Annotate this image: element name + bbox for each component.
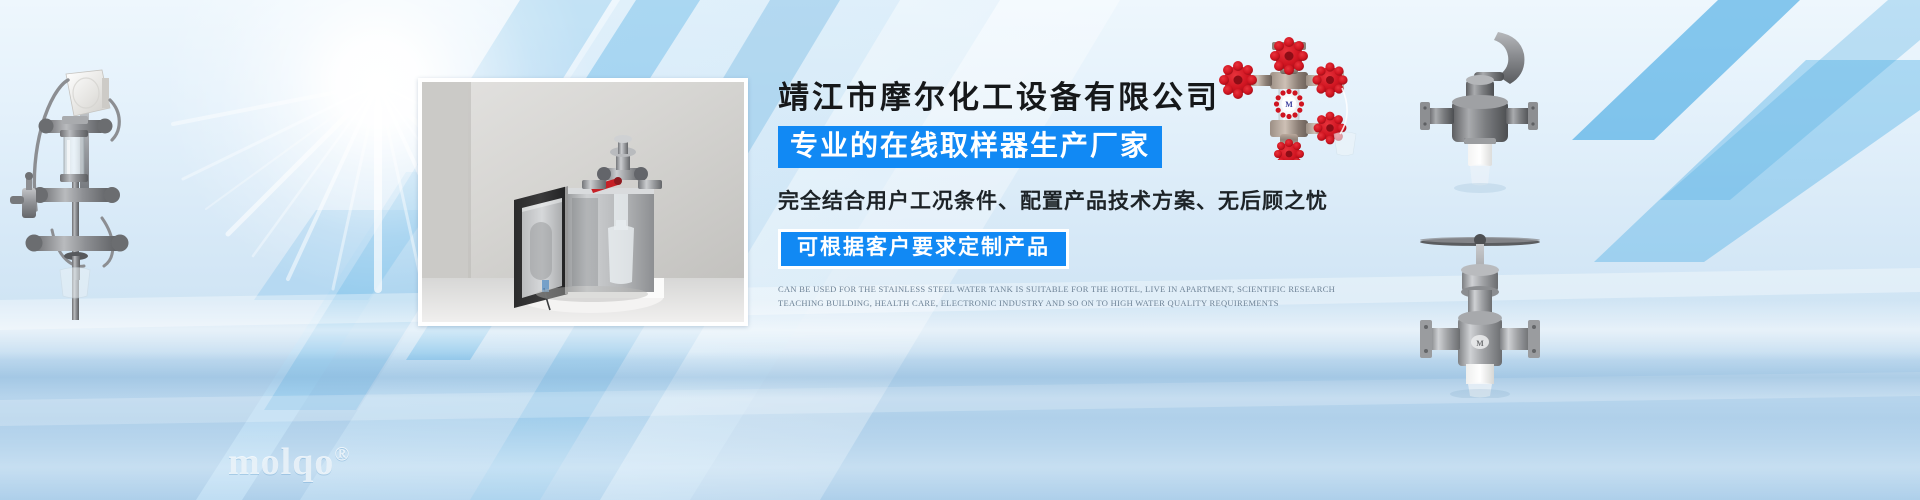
brand-watermark: molqo® (228, 440, 350, 484)
online-sampler-icon (6, 60, 156, 320)
angle-valve-icon (1412, 28, 1542, 198)
registered-mark: ® (334, 443, 350, 465)
sampler-cabinet-photo (418, 78, 748, 326)
banner-text-block: 靖江市摩尔化工设备有限公司 专业的在线取样器生产厂家 完全结合用户工况条件、配置… (778, 82, 1398, 310)
secondary-tagline: 可根据客户要求定制产品 (778, 229, 1069, 269)
sub-tagline: 完全结合用户工况条件、配置产品技术方案、无后顾之忧 (778, 185, 1398, 215)
company-name: 靖江市摩尔化工设备有限公司 (778, 82, 1398, 115)
svg-text:M: M (1476, 339, 1484, 348)
sampler-cabinet-illustration (422, 82, 744, 322)
water-horizon-band (0, 352, 1920, 398)
promo-banner: 靖江市摩尔化工设备有限公司 专业的在线取样器生产厂家 完全结合用户工况条件、配置… (0, 0, 1920, 500)
primary-tagline: 专业的在线取样器生产厂家 (778, 126, 1162, 168)
english-description: Can be used for the stainless steel wate… (778, 282, 1378, 311)
gate-valve-icon: M (1400, 218, 1560, 398)
watermark-text: molqo (228, 441, 334, 483)
